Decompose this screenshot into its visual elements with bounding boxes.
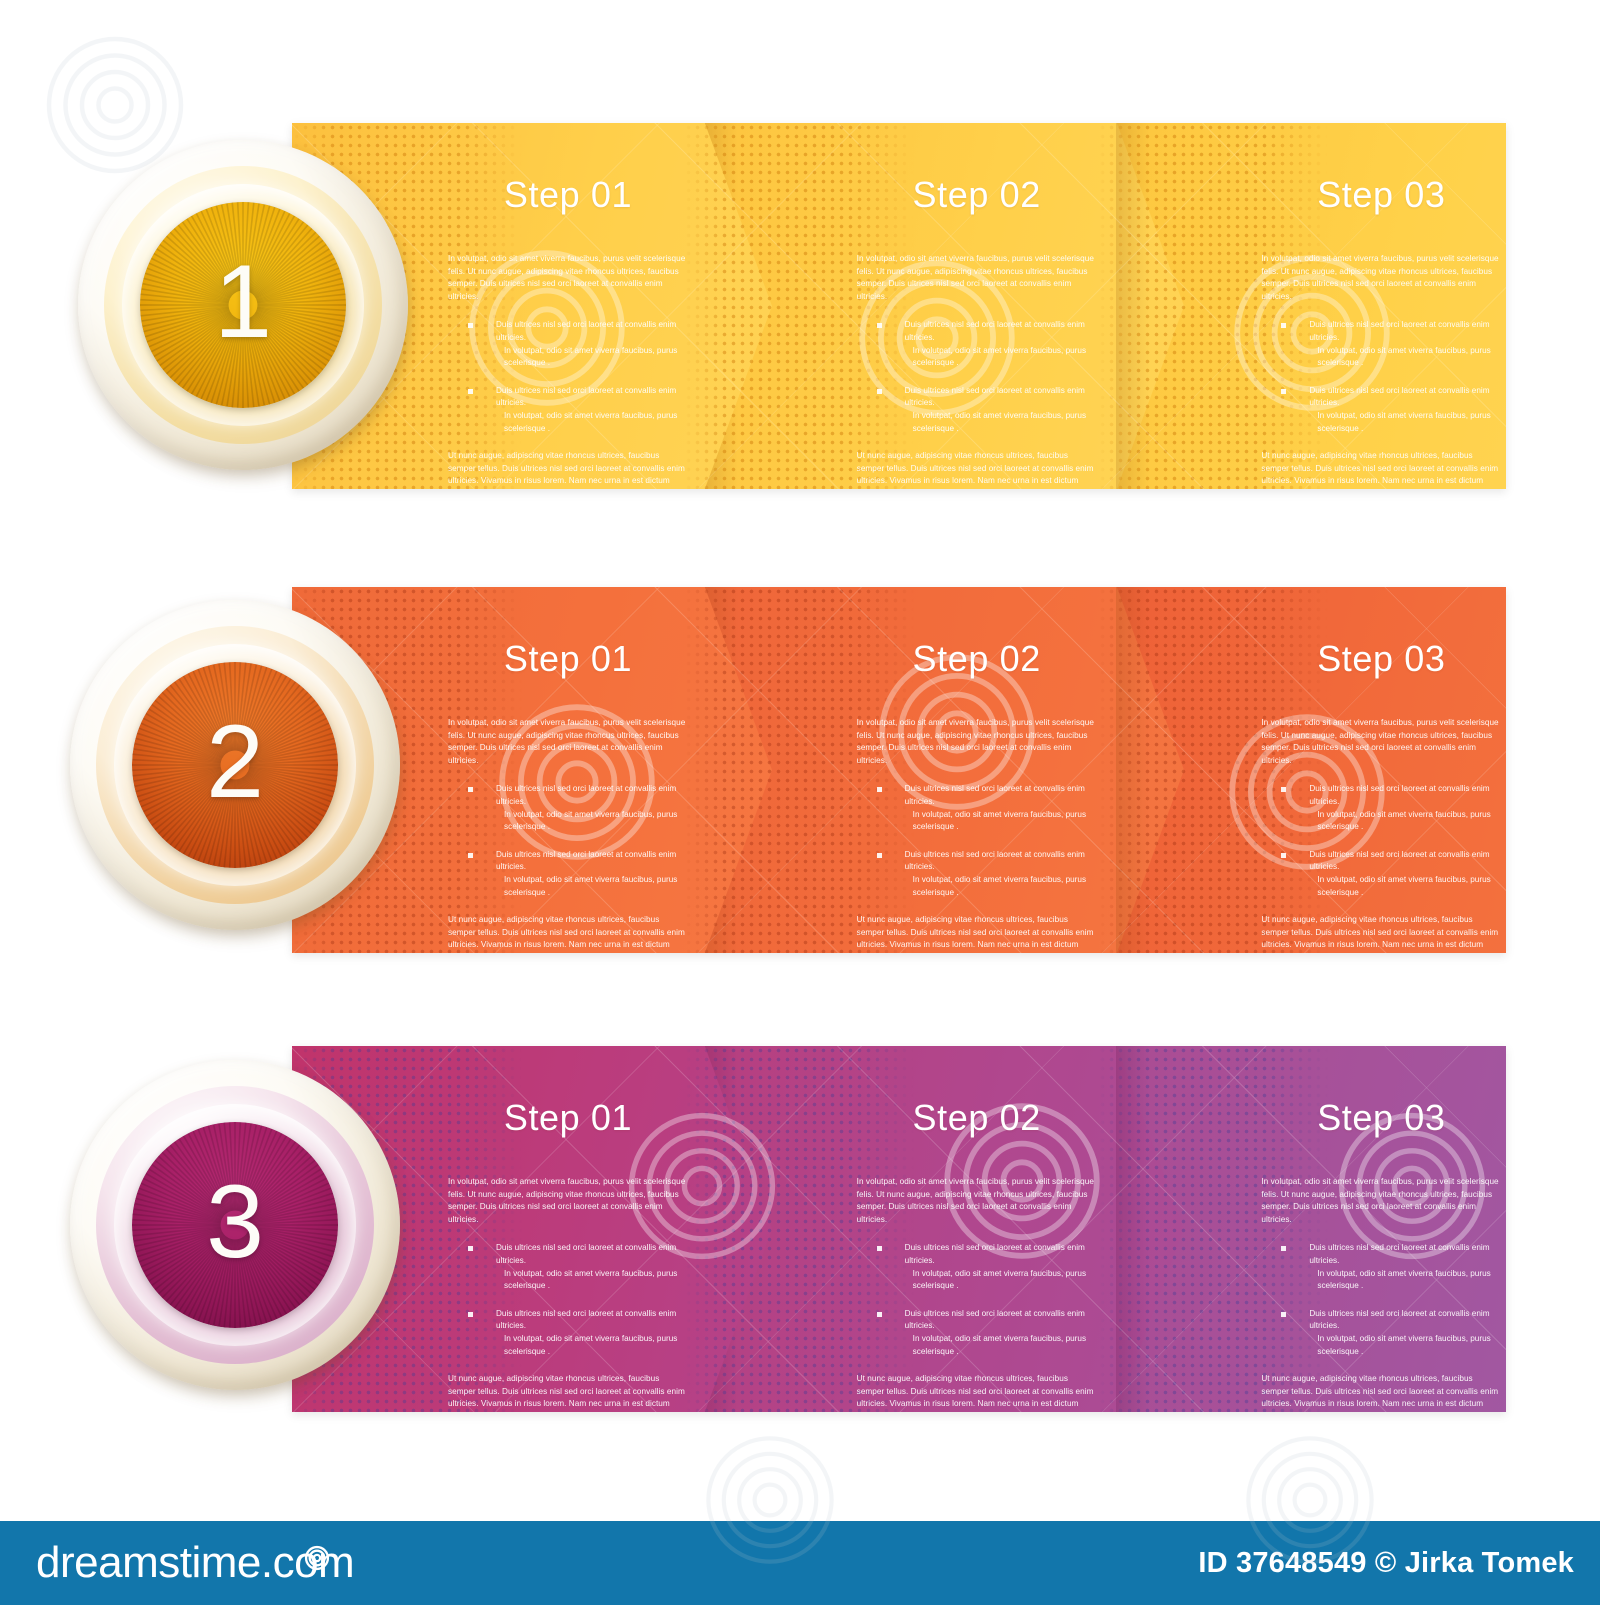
- stock-photo-footer: dreamstime.com ID 37648549 © Jirka Tomek: [0, 1521, 1600, 1605]
- spiral-swirl-icon: [304, 1532, 330, 1582]
- chevron-panel-2: [704, 587, 1184, 953]
- step-banner-3[interactable]: Step 01 In volutpat, odio sit amet viver…: [292, 1046, 1506, 1412]
- badge-number: 3: [132, 1122, 338, 1328]
- dreamstime-logo[interactable]: dreamstime.com: [36, 1538, 354, 1588]
- step-banner-1[interactable]: Step 01 In volutpat, odio sit amet viver…: [292, 123, 1506, 489]
- infographic-canvas: Step 01 In volutpat, odio sit amet viver…: [0, 0, 1600, 1605]
- badge-disc: 1: [140, 202, 346, 408]
- badge-disc: 3: [132, 1122, 338, 1328]
- step-number-badge-2[interactable]: 2: [70, 600, 400, 930]
- image-credit: ID 37648549 © Jirka Tomek: [1198, 1547, 1574, 1580]
- step-number-badge-1[interactable]: 1: [78, 140, 408, 470]
- banner-surface: Step 01 In volutpat, odio sit amet viver…: [292, 1046, 1506, 1412]
- badge-number: 1: [140, 202, 346, 408]
- step-banner-2[interactable]: Step 01 In volutpat, odio sit amet viver…: [292, 587, 1506, 953]
- chevron-panel-2: [704, 1046, 1184, 1412]
- banner-surface: Step 01 In volutpat, odio sit amet viver…: [292, 587, 1506, 953]
- chevron-panel-2: [704, 123, 1184, 489]
- step-number-badge-3[interactable]: 3: [70, 1060, 400, 1390]
- badge-number: 2: [132, 662, 338, 868]
- banner-surface: Step 01 In volutpat, odio sit amet viver…: [292, 123, 1506, 489]
- badge-disc: 2: [132, 662, 338, 868]
